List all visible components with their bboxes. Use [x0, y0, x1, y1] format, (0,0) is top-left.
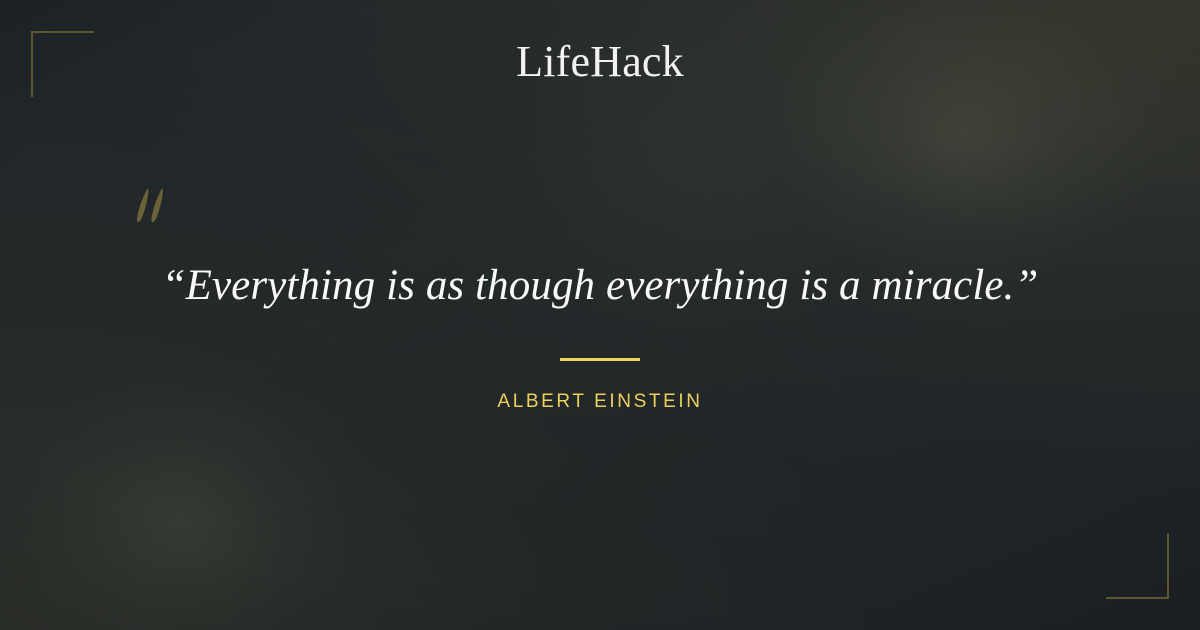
- quote-text: “Everything is as though everything is a…: [70, 258, 1130, 314]
- quote-container: “Everything is as though everything is a…: [0, 258, 1200, 314]
- double-quote-icon: [128, 176, 188, 240]
- background-glow-bottom-left: [0, 0, 1200, 630]
- background-glow-center: [0, 0, 1200, 630]
- gold-divider: [560, 358, 640, 361]
- divider-container: [0, 358, 1200, 361]
- background-vignette: [0, 0, 1200, 630]
- quote-card: LifeHack “Everything is as though everyt…: [0, 0, 1200, 630]
- corner-bracket-bottom-right-icon: [1106, 533, 1169, 599]
- background-glow-top-right: [0, 0, 1200, 630]
- brand-logo: LifeHack: [0, 39, 1200, 85]
- quote-author: ALBERT EINSTEIN: [0, 390, 1200, 414]
- background-base-gradient: [0, 0, 1200, 630]
